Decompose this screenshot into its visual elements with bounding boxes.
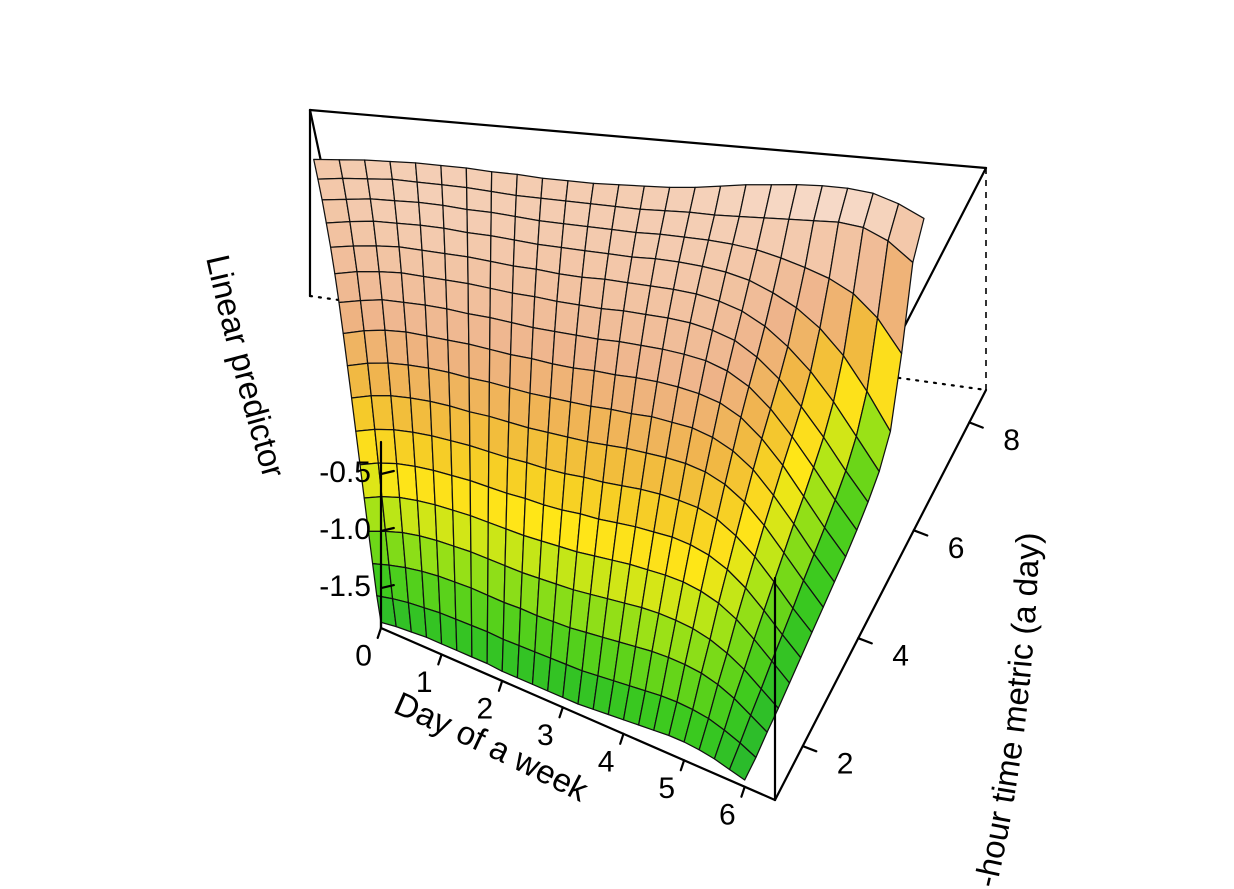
surface-facet (368, 363, 391, 396)
surface-facet (490, 261, 513, 293)
surface-facet (507, 458, 527, 499)
surface-facet (361, 300, 386, 331)
surface-facet (504, 566, 522, 609)
surface-facet (471, 588, 488, 632)
surface-facet (512, 293, 535, 328)
surface-facet (397, 464, 418, 501)
surface-facet (468, 284, 490, 318)
surface-facet (347, 363, 371, 398)
surface-facet (343, 178, 371, 199)
surface-facet (488, 487, 507, 529)
surface-facet (555, 301, 580, 335)
surface-facet (528, 393, 550, 432)
z-tick-label-2: -1.5 (319, 570, 371, 603)
surface-facet (440, 613, 457, 651)
surface-facet (357, 272, 382, 301)
surface-facet (335, 272, 361, 303)
box-edge-top-back (310, 110, 986, 168)
surface-facet (420, 536, 439, 576)
surface-facet (432, 436, 452, 476)
surface-facet (533, 297, 557, 332)
surface-facet (454, 546, 471, 588)
surface-facet (509, 388, 530, 428)
surface-facet (468, 257, 491, 288)
surface-facet (353, 246, 379, 272)
x-tick-label-0: 0 (355, 640, 372, 673)
surface-facet (455, 582, 472, 625)
x-tick-2 (499, 681, 502, 691)
z-axis-title: Linear predictor (199, 251, 293, 482)
surface-facet (388, 363, 411, 398)
surface-facet (445, 254, 468, 284)
surface-facet (403, 533, 422, 572)
surface-facet (422, 250, 446, 280)
surface-facet (550, 364, 573, 402)
surface-facet (566, 181, 594, 204)
surface-facet (415, 466, 435, 504)
surface-facet (373, 221, 399, 247)
surface-facet (467, 188, 492, 213)
x-tick-5 (681, 760, 684, 770)
surface-facet (371, 396, 394, 430)
surface-plot-figure: 01234562468-0.5-1.0-1.5 Day of a week-ho… (0, 0, 1234, 889)
surface-facet (608, 230, 636, 258)
surface-facet (441, 166, 467, 188)
surface-facet (516, 174, 542, 198)
surface-facet (448, 340, 469, 378)
surface-facet (379, 272, 404, 303)
x-tick-1 (438, 655, 441, 665)
y-tick-label-2: 6 (948, 532, 965, 565)
surface-facet (435, 505, 454, 546)
surface-facet (395, 201, 421, 226)
surface-facet (394, 430, 415, 467)
surface-facet (522, 536, 541, 579)
surface-facet (453, 510, 471, 552)
surface-facet (430, 401, 451, 440)
surface-facet (417, 501, 436, 541)
surface-facet (513, 240, 538, 269)
surface-facet (406, 568, 425, 608)
surface-facet (449, 372, 470, 411)
surface-facet (419, 202, 444, 228)
z-tick-label-1: -1.0 (319, 513, 371, 546)
y-axis-title: -hour time metric (a day) (967, 532, 1046, 889)
surface-facet (376, 246, 401, 273)
surface-facet (487, 632, 503, 672)
surface-facet (427, 336, 449, 372)
surface-facet (591, 183, 619, 206)
x-tick-label-5: 5 (658, 772, 675, 805)
surface-facet (368, 179, 395, 201)
y-tick-1 (858, 638, 872, 643)
surface-facet (470, 412, 490, 452)
surface-facet (517, 646, 534, 685)
surface-facet (467, 210, 491, 236)
x-tick-0 (378, 628, 381, 638)
surface-facet (469, 378, 489, 416)
surface-facet (524, 499, 544, 542)
x-tick-label-3: 3 (537, 719, 554, 752)
surface-facet (576, 305, 601, 339)
surface-facet (548, 398, 571, 438)
x-tick-3 (560, 707, 563, 717)
surface-facet (519, 609, 537, 652)
x-tick-label-6: 6 (719, 798, 736, 831)
surface-facet (508, 422, 529, 463)
surface-facet (446, 280, 469, 314)
surface-facet (490, 288, 513, 322)
y-tick-0 (803, 746, 817, 751)
surface-facet (588, 204, 616, 230)
surface-facet (382, 300, 406, 332)
surface-facet (456, 619, 472, 657)
surface-facet (365, 160, 393, 179)
surface-facet (532, 328, 555, 364)
surface-facet (452, 476, 471, 516)
surface-facet (582, 251, 608, 280)
surface-facet (564, 201, 591, 227)
surface-facet (417, 182, 443, 205)
surface-facet (539, 541, 559, 584)
surface-facet (331, 246, 357, 274)
surface-facet (413, 432, 434, 470)
surface-facet (490, 318, 512, 355)
surface-facet (343, 331, 368, 366)
surface-facet (411, 398, 432, 436)
surface-facet (392, 179, 418, 202)
surface-facet (424, 608, 441, 644)
surface-facet (425, 305, 448, 340)
surface-facet (530, 359, 553, 398)
y-tick-label-1: 4 (892, 640, 909, 673)
surface-facet (397, 223, 422, 250)
surface-facet (489, 382, 510, 422)
surface-facet (539, 198, 565, 224)
surface-facet (339, 160, 367, 179)
surface-facet (408, 365, 430, 401)
surface-facet (527, 428, 548, 469)
surface-facet (557, 274, 582, 305)
surface-facet (404, 302, 427, 336)
surface-facet (488, 522, 506, 565)
surface-facet (370, 199, 397, 223)
surface-facet (422, 571, 440, 613)
surface-facet (451, 441, 470, 481)
surface-facet (350, 221, 376, 246)
surface-facet (399, 247, 424, 277)
surface-facet (447, 309, 469, 344)
x-tick-4 (620, 734, 623, 744)
surface-facet (615, 185, 644, 210)
surface-facet (541, 505, 562, 547)
surface-facet (553, 332, 577, 369)
y-tick-3 (969, 422, 983, 427)
y-tick-label-0: 2 (837, 748, 854, 781)
x-tick-label-4: 4 (598, 745, 615, 778)
surface-facet (503, 603, 520, 646)
surface-facet (612, 207, 640, 233)
y-tick-2 (914, 530, 928, 535)
z-tick-label-0: -0.5 (319, 456, 371, 489)
surface-facet (559, 248, 585, 278)
surface-facet (424, 277, 447, 309)
surface-facet (489, 416, 509, 457)
surface-facet (510, 355, 532, 394)
surface-facet (375, 429, 397, 463)
surface-facet (314, 159, 343, 179)
surface-facet (444, 228, 468, 257)
surface-facet (579, 277, 605, 308)
surface-facet (571, 368, 595, 406)
surface-facet (450, 406, 470, 446)
surface-facet (502, 639, 519, 678)
surface-facet (535, 269, 560, 301)
surface-facet (318, 178, 346, 200)
surface-facet (322, 199, 350, 223)
surface-facet (525, 463, 546, 505)
surface-facet (470, 446, 489, 487)
surface-facet (489, 452, 508, 494)
surface-facet (472, 626, 488, 664)
surface-facet (433, 470, 452, 510)
surface-facet (326, 222, 353, 248)
surface-facet (469, 344, 490, 382)
surface-facet (538, 221, 564, 248)
surface-facet (468, 314, 490, 350)
y-tick-label-3: 8 (1003, 424, 1020, 457)
surface-facet (513, 266, 537, 297)
surface-facet (544, 469, 565, 510)
surface-facet (546, 433, 568, 474)
surface-facet (585, 227, 612, 254)
surface-facet (506, 493, 525, 535)
surface-facet (489, 349, 510, 388)
surface-facet (391, 396, 413, 432)
surface-facet (491, 236, 515, 266)
surface-facet (429, 368, 450, 406)
surface-facet (401, 273, 425, 305)
surface-facet (505, 529, 524, 573)
surface-facet (346, 199, 373, 222)
surface-facet (416, 163, 442, 185)
surface-facet (561, 224, 587, 251)
surface-facet (511, 323, 533, 359)
surface-facet (541, 178, 568, 201)
surface-facet (400, 498, 420, 536)
surface-plot-svg: 01234562468-0.5-1.0-1.5 Day of a week-ho… (0, 0, 1234, 889)
surface-facet (420, 225, 445, 253)
surface-facet (406, 332, 429, 368)
surface-facet (364, 330, 388, 363)
surface-facet (385, 330, 408, 365)
x-tick-6 (741, 787, 744, 797)
surface-facet (339, 301, 364, 334)
surface-facet (573, 335, 598, 371)
